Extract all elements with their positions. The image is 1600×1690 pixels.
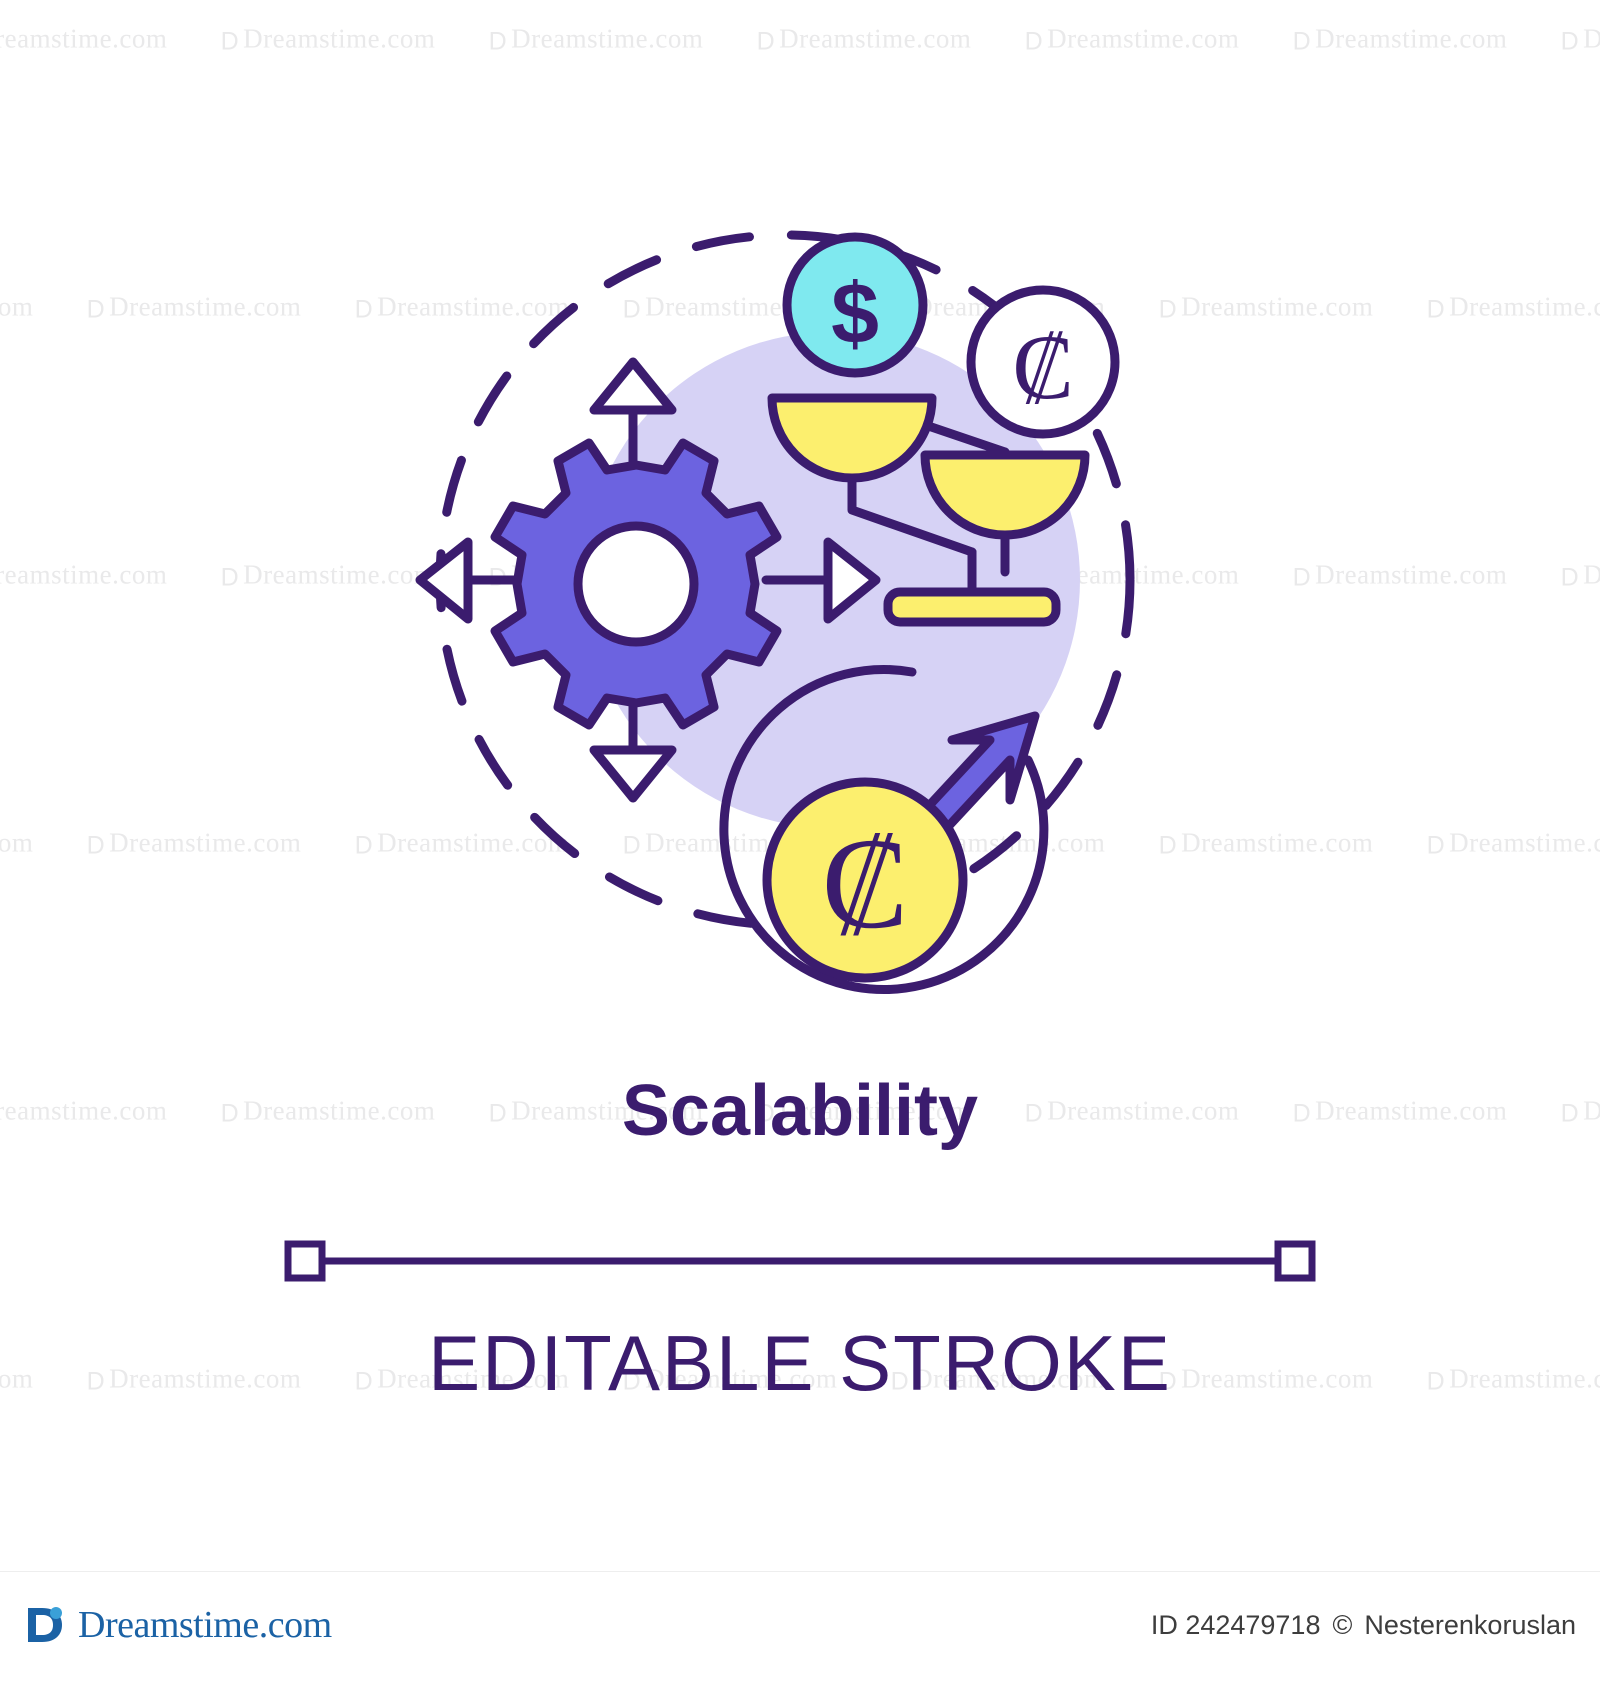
dreamstime-logo-text: Dreamstime.com (78, 1603, 332, 1647)
dollar-coin-icon: $ (787, 237, 923, 373)
page-subtitle: EDITABLE STROKE (428, 1319, 1172, 1400)
colon-currency-coin-outline-icon: ₡ (971, 290, 1115, 434)
image-id: ID 242479718 (1151, 1610, 1321, 1641)
page-title: Scalability (622, 1071, 978, 1151)
footer-bar: Dreamstime.com ID 242479718 © Nesterenko… (0, 1571, 1600, 1690)
copyright-symbol: © (1332, 1610, 1352, 1641)
svg-text:₡: ₡ (1012, 316, 1073, 418)
author-name[interactable]: Nesterenkoruslan (1364, 1610, 1576, 1641)
colon-currency-coin-filled-icon: ₡ (767, 782, 963, 978)
concept-illustration: $ ₡ ₡ Scalability EDITABLE STROKE (0, 0, 1600, 1400)
dreamstime-logo[interactable]: Dreamstime.com (22, 1602, 332, 1648)
footer-credits: ID 242479718 © Nesterenkoruslan (1151, 1610, 1576, 1641)
stroke-width-handle-icon (288, 1244, 1312, 1278)
svg-text:$: $ (831, 266, 879, 362)
dreamstime-mark-icon (22, 1602, 68, 1648)
svg-text:₡: ₡ (822, 812, 909, 956)
